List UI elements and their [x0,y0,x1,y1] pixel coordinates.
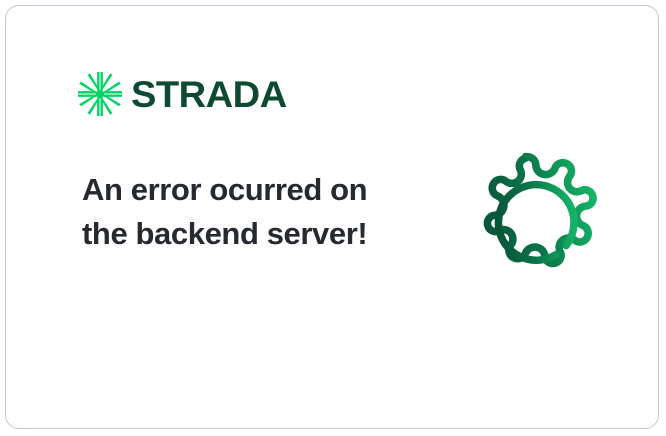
asterisk-starburst-icon [78,72,122,116]
brand-wordmark: STRADA [131,76,287,113]
brand-lockup: STRADA [78,72,282,116]
error-card: STRADA An error ocurred on the backend s… [5,5,659,429]
error-headline: An error ocurred on the backend server! [82,168,382,256]
gear-icon [449,142,617,310]
error-screen: STRADA An error ocurred on the backend s… [0,0,666,436]
